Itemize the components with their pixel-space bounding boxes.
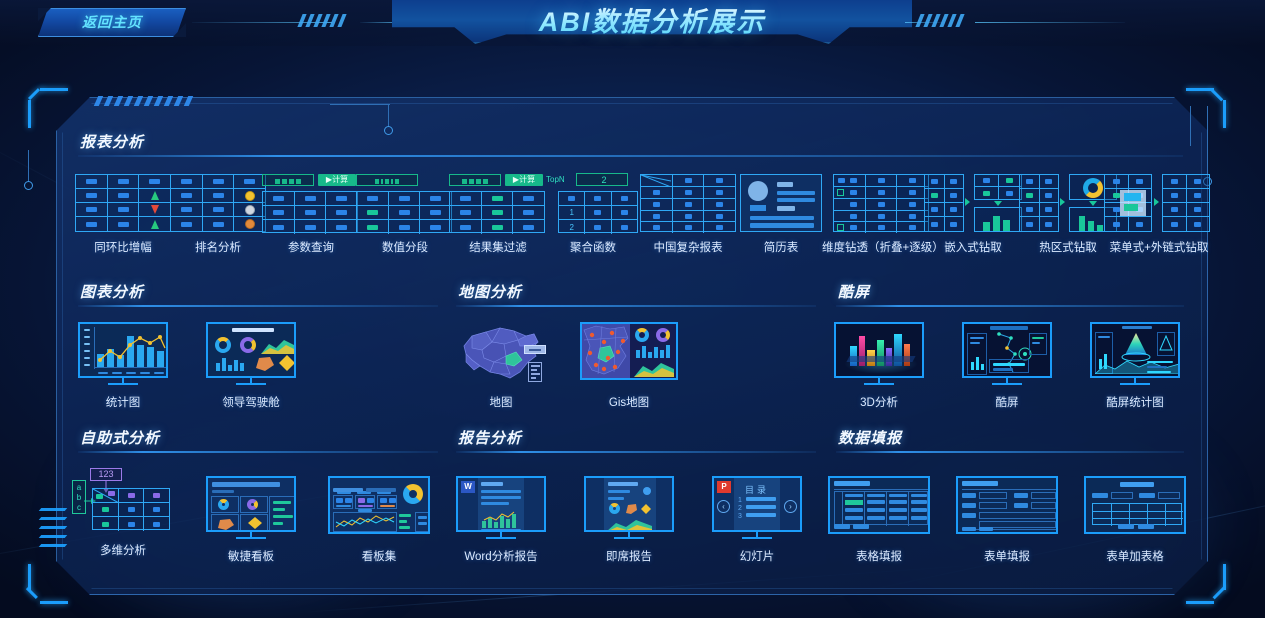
card-label: 即席报告 bbox=[576, 550, 682, 564]
statistics-chart-icon bbox=[70, 322, 176, 384]
executive-dashboard-icon bbox=[198, 322, 304, 384]
page-root: 返回主页 ABI数据分析展示 bbox=[0, 0, 1265, 618]
form-plus-grid-icon bbox=[1082, 476, 1188, 538]
card-label: 领导驾驶舱 bbox=[198, 396, 304, 410]
card-label: 结果集过滤 bbox=[445, 241, 551, 255]
complex-grid-icon bbox=[635, 172, 741, 234]
card-multidimensional[interactable]: 123 abc 多维分析 bbox=[70, 468, 176, 558]
card-label: Gis地图 bbox=[576, 396, 682, 410]
card-dashboard-collection[interactable]: 看板集 bbox=[326, 476, 432, 564]
card-label: 酷屏统计图 bbox=[1082, 396, 1188, 410]
section-title-report-analysis: 报表分析 bbox=[80, 131, 144, 152]
topn-value: 2 bbox=[597, 175, 606, 185]
back-to-home-label: 返回主页 bbox=[39, 9, 185, 36]
table-rank-medal-icon bbox=[165, 172, 271, 234]
card-cool-screen-chart[interactable]: 酷屏统计图 bbox=[1082, 322, 1188, 410]
card-label: 统计图 bbox=[70, 396, 176, 410]
section-title-self-service: 自助式分析 bbox=[80, 427, 160, 448]
panel-tick-line bbox=[330, 104, 390, 105]
card-resume[interactable]: 简历表 bbox=[728, 172, 834, 255]
ppt-toc-label: 目录 bbox=[734, 483, 780, 496]
section-title-chart-analysis: 图表分析 bbox=[80, 281, 144, 302]
table-topn-icon: TopN 2 1 2 bbox=[540, 172, 646, 234]
card-label: 地图 bbox=[448, 396, 554, 410]
panel-tick-line bbox=[1207, 106, 1208, 178]
back-to-home-button[interactable]: 返回主页 bbox=[38, 8, 186, 37]
table-trend-icon bbox=[70, 172, 176, 234]
card-label: 多维分析 bbox=[70, 544, 176, 558]
header-rule-right bbox=[975, 22, 1125, 23]
card-executive-dashboard[interactable]: 领导驾驶舱 bbox=[198, 322, 304, 410]
app-header: 返回主页 ABI数据分析展示 bbox=[0, 0, 1265, 52]
card-form-plus-grid[interactable]: 表单加表格 bbox=[1082, 476, 1188, 564]
card-param-query[interactable]: ▶计算 参数查询 bbox=[258, 172, 364, 255]
card-result-filter[interactable]: ▶计算 结果集过滤 bbox=[445, 172, 551, 255]
header-hash-left bbox=[300, 14, 344, 27]
section-rule-report-doc bbox=[456, 451, 816, 453]
card-label: 同环比增幅 bbox=[70, 241, 176, 255]
page-title: ABI数据分析展示 bbox=[392, 2, 912, 42]
cool-screen-icon bbox=[954, 322, 1060, 384]
card-cool-screen[interactable]: 酷屏 bbox=[954, 322, 1060, 410]
form-entry-icon bbox=[954, 476, 1060, 538]
menu-link-drill-icon bbox=[1100, 172, 1218, 234]
gis-map-icon bbox=[576, 322, 682, 384]
card-label: 表格填报 bbox=[826, 550, 932, 564]
section-rule-data-entry bbox=[836, 451, 1184, 453]
section-rule-report-analysis bbox=[78, 155, 1183, 157]
ppt-badge: P bbox=[717, 481, 731, 493]
card-form-entry[interactable]: 表单填报 bbox=[954, 476, 1060, 564]
card-label: 参数查询 bbox=[258, 241, 364, 255]
card-slideshow[interactable]: P 目录 123 ‹ › 幻灯片 bbox=[704, 476, 810, 564]
card-label: 表单加表格 bbox=[1082, 550, 1188, 564]
card-label: 聚合函数 bbox=[540, 241, 646, 255]
card-label: 中国复杂报表 bbox=[635, 241, 741, 255]
china-map-icon bbox=[448, 322, 554, 384]
card-label: 简历表 bbox=[728, 241, 834, 255]
multidimensional-icon: 123 abc bbox=[70, 468, 176, 538]
card-label: 酷屏 bbox=[954, 396, 1060, 410]
card-3d-analysis[interactable]: 3D分析 bbox=[826, 322, 932, 410]
card-tonghuanbi[interactable]: 同环比增幅 bbox=[70, 172, 176, 255]
slideshow-icon: P 目录 123 ‹ › bbox=[704, 476, 810, 538]
card-label: 看板集 bbox=[326, 550, 432, 564]
section-rule-self-service bbox=[78, 451, 438, 453]
section-title-data-entry: 数据填报 bbox=[838, 427, 902, 448]
section-title-cool-screen: 酷屏 bbox=[838, 281, 870, 302]
card-word-report[interactable]: W Word分析报告 bbox=[448, 476, 554, 564]
3d-city-icon bbox=[826, 322, 932, 384]
embedded-drill-icon bbox=[920, 172, 1026, 234]
section-title-report-doc: 报告分析 bbox=[458, 427, 522, 448]
card-complex-report[interactable]: 中国复杂报表 bbox=[635, 172, 741, 255]
card-statistics-chart[interactable]: 统计图 bbox=[70, 322, 176, 410]
section-rule-cool-screen bbox=[836, 305, 1184, 307]
word-report-icon: W bbox=[448, 476, 554, 538]
card-embedded-drill[interactable]: 嵌入式钻取 bbox=[920, 172, 1026, 255]
section-rule-chart-analysis bbox=[78, 305, 438, 307]
resume-card-icon bbox=[728, 172, 834, 234]
panel-tick-line bbox=[1190, 106, 1191, 146]
section-rule-map-analysis bbox=[456, 305, 816, 307]
cool-screen-chart-icon bbox=[1082, 322, 1188, 384]
dashboard-collection-icon bbox=[326, 476, 432, 538]
card-grid-entry[interactable]: 表格填报 bbox=[826, 476, 932, 564]
panel-tick-circle bbox=[24, 181, 33, 190]
card-label: 敏捷看板 bbox=[198, 550, 304, 564]
grid-entry-icon bbox=[826, 476, 932, 538]
card-label: 表单填报 bbox=[954, 550, 1060, 564]
topn-badge: TopN bbox=[546, 175, 565, 184]
panel-top-hashes bbox=[96, 96, 191, 106]
card-china-map[interactable]: 地图 bbox=[448, 322, 554, 410]
card-aggregate[interactable]: TopN 2 1 2 聚合函数 bbox=[540, 172, 646, 255]
table-result-filter-icon: ▶计算 bbox=[445, 172, 551, 234]
table-param-calc-icon: ▶计算 bbox=[258, 172, 364, 234]
card-label: 嵌入式钻取 bbox=[920, 241, 1026, 255]
card-gis-map[interactable]: Gis地图 bbox=[576, 322, 682, 410]
table-value-band-icon bbox=[352, 172, 458, 234]
header-hash-right bbox=[918, 14, 962, 27]
card-label: 3D分析 bbox=[826, 396, 932, 410]
corner-bracket-bottom-left bbox=[28, 564, 68, 604]
panel-tick-circle bbox=[384, 126, 393, 135]
card-label: 菜单式+外链式钻取 bbox=[1100, 241, 1218, 255]
card-agile-dashboard[interactable]: 敏捷看板 bbox=[198, 476, 304, 564]
section-title-map-analysis: 地图分析 bbox=[458, 281, 522, 302]
card-value-band[interactable]: 数值分段 bbox=[352, 172, 458, 255]
card-menu-link-drill[interactable]: 菜单式+外链式钻取 bbox=[1100, 172, 1218, 255]
word-badge: W bbox=[461, 481, 475, 493]
adhoc-report-icon bbox=[576, 476, 682, 538]
panel-tick-line bbox=[388, 105, 389, 127]
card-adhoc-report[interactable]: 即席报告 bbox=[576, 476, 682, 564]
card-label: 排名分析 bbox=[165, 241, 271, 255]
card-ranking[interactable]: 排名分析 bbox=[165, 172, 271, 255]
panel-tick-line bbox=[28, 150, 29, 182]
agile-dashboard-icon bbox=[198, 476, 304, 538]
card-label: 幻灯片 bbox=[704, 550, 810, 564]
card-label: 数值分段 bbox=[352, 241, 458, 255]
card-label: Word分析报告 bbox=[448, 550, 554, 564]
corner-bracket-top-left bbox=[28, 88, 68, 128]
